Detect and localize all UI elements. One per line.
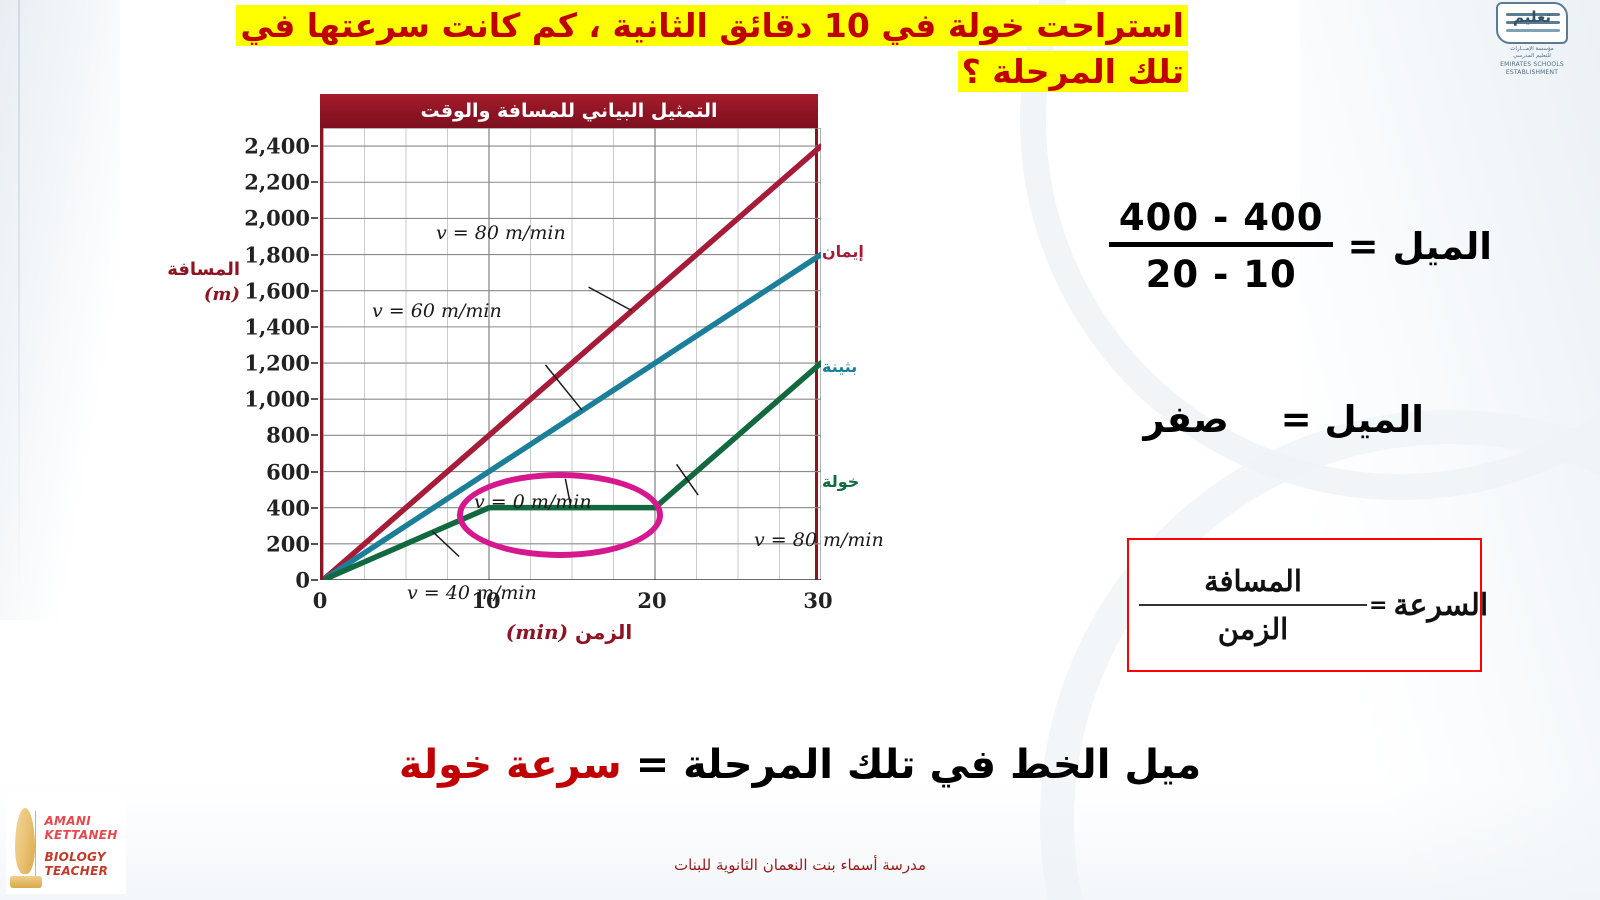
org-logo-mark: تعليم — [1496, 2, 1568, 44]
y-tick-mark — [311, 362, 318, 364]
conclusion-line: ميل الخط في تلك المرحلة = سرعة خولة — [0, 742, 1600, 788]
y-tick-label: 1,000 — [244, 387, 310, 412]
series-label-buthaina: بثينة — [822, 357, 857, 376]
org-logo-subtitle-ar-2: للتعليم المدرسي — [1472, 53, 1592, 60]
slope-numerator: 400 - 400 — [1109, 196, 1334, 242]
series-label-eman: إيمان — [822, 242, 864, 261]
highlight-ellipse-icon — [457, 472, 663, 558]
conclusion-red-part: سرعة خولة — [399, 742, 622, 788]
y-tick-mark — [311, 579, 318, 581]
y-tick-mark — [311, 145, 318, 147]
org-logo-subtitle-en-2: ESTABLISHMENT — [1472, 69, 1592, 77]
slope-fraction: 400 - 400 20 - 10 — [1109, 196, 1334, 296]
annotation-v80-red: v = 80 m/min — [436, 222, 566, 244]
x-tick-label: 0 — [313, 588, 328, 613]
y-tick-label: 2,400 — [244, 134, 310, 159]
y-axis-tick-labels: 02004006008001,0001,2001,4001,6001,8002,… — [204, 128, 318, 580]
org-logo-arabic-wordmark: تعليم — [1498, 8, 1566, 26]
y-tick-label: 2,000 — [244, 206, 310, 231]
y-tick-label: 1,600 — [244, 278, 310, 303]
distance-time-figure: التمثيل البياني للمسافة والوقت المسافة (… — [204, 92, 872, 684]
y-tick-label: 1,200 — [244, 351, 310, 376]
annotation-v80-green: v = 80 m/min — [754, 529, 884, 551]
teacher-name: AMANI KETTANEH — [44, 814, 126, 842]
org-logo-subtitle-en-1: EMIRATES SCHOOLS — [1472, 61, 1592, 69]
organization-logo: تعليم مؤسسة الإمـــارات للتعليم المدرسي … — [1472, 2, 1592, 107]
school-name-footer: مدرسة أسماء بنت النعمان الثانوية للبنات — [0, 856, 1600, 874]
teacher-logo: AMANI KETTANEH BIOLOGY TEACHER — [6, 798, 126, 894]
x-axis-unit: (min) — [506, 620, 568, 644]
y-tick-label: 600 — [266, 459, 310, 484]
y-tick-mark — [311, 398, 318, 400]
x-tick-label: 30 — [803, 588, 832, 613]
formula-equals: = — [1369, 593, 1387, 618]
x-axis-title-text: الزمن — [575, 620, 632, 644]
org-logo-subtitle-ar-1: مؤسسة الإمـــارات — [1472, 46, 1592, 53]
slope-result-label: الميل — [1324, 398, 1424, 441]
y-tick-mark — [311, 254, 318, 256]
background-bottom-band — [0, 780, 1600, 900]
y-tick-mark — [311, 181, 318, 183]
y-tick-mark — [311, 326, 318, 328]
formula-fraction: المسافة الزمن — [1139, 562, 1367, 648]
formula-lhs: السرعة — [1393, 588, 1488, 623]
question-line-2: تلك المرحلة ؟ — [958, 51, 1188, 92]
background-decoration-left — [0, 0, 120, 620]
slope-denominator: 20 - 10 — [1109, 251, 1334, 296]
slope-calculation: الميل = 400 - 400 20 - 10 — [1109, 196, 1492, 296]
y-tick-label: 1,400 — [244, 314, 310, 339]
formula-fraction-bar — [1139, 604, 1367, 606]
question-line-1: استراحت خولة في 10 دقائق الثانية ، كم كا… — [236, 5, 1188, 46]
chart-title: التمثيل البياني للمسافة والوقت — [320, 94, 818, 128]
series-label-khawla: خولة — [822, 472, 859, 491]
question-banner: استراحت خولة في 10 دقائق الثانية ، كم كا… — [196, 4, 1188, 93]
y-tick-mark — [311, 434, 318, 436]
x-tick-label: 20 — [637, 588, 666, 613]
y-tick-label: 0 — [295, 568, 310, 593]
slope-result-equals: = — [1281, 398, 1312, 441]
annotation-v60-blue: v = 60 m/min — [372, 300, 502, 322]
slope-equals: = — [1347, 225, 1378, 268]
conclusion-black-part: ميل الخط في تلك المرحلة = — [622, 742, 1201, 788]
y-tick-mark — [311, 471, 318, 473]
y-tick-label: 400 — [266, 495, 310, 520]
y-tick-mark — [311, 290, 318, 292]
x-axis-title: الزمن (min) — [320, 620, 818, 644]
y-tick-label: 200 — [266, 531, 310, 556]
speed-formula-box: السرعة = المسافة الزمن — [1127, 538, 1482, 672]
teacher-figure-base — [10, 876, 42, 888]
y-tick-mark — [311, 507, 318, 509]
slope-label: الميل — [1392, 225, 1492, 268]
annotation-v40-green: v = 40 m/min — [407, 582, 537, 604]
x-axis-tick-labels: 0102030 — [320, 584, 818, 618]
slope-result-value: صفر — [1143, 398, 1228, 441]
y-tick-label: 2,200 — [244, 170, 310, 195]
y-tick-label: 1,800 — [244, 242, 310, 267]
y-tick-mark — [311, 543, 318, 545]
y-tick-mark — [311, 217, 318, 219]
slope-result: الميل = صفر — [1143, 398, 1424, 441]
formula-numerator: المسافة — [1139, 562, 1367, 600]
y-tick-label: 800 — [266, 423, 310, 448]
formula-denominator: الزمن — [1139, 610, 1367, 648]
slope-fraction-bar — [1109, 242, 1334, 247]
teacher-figure-icon — [6, 802, 31, 890]
